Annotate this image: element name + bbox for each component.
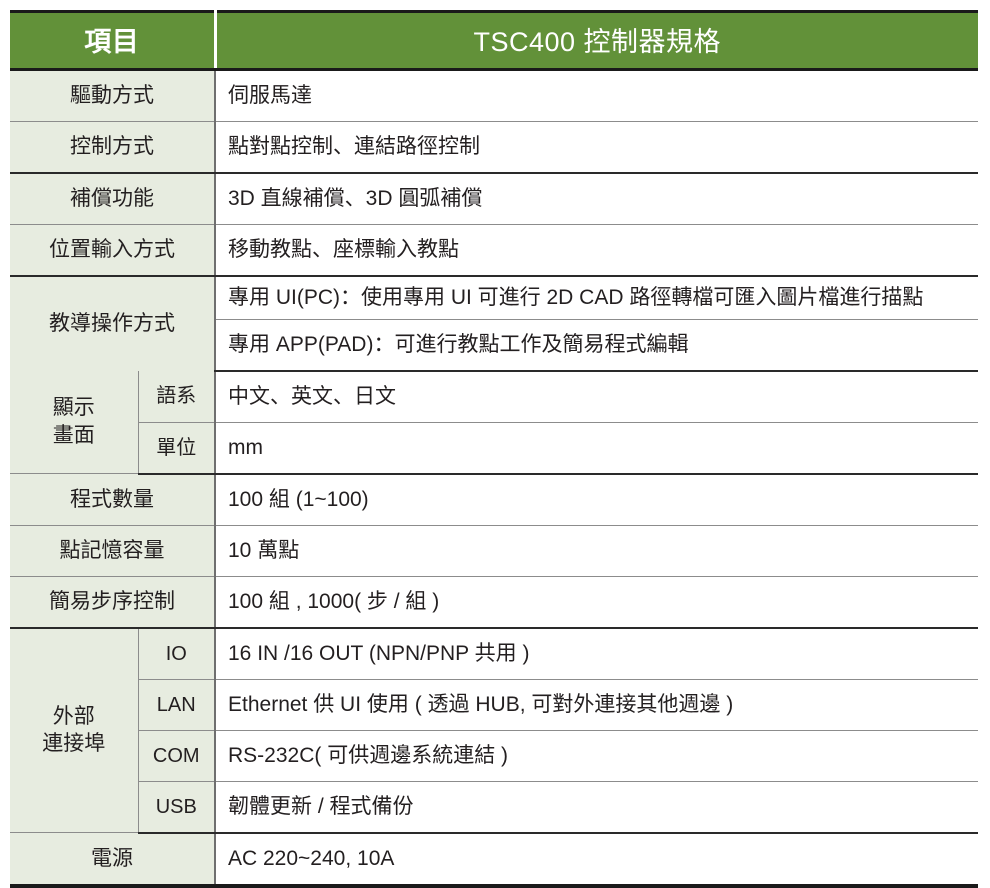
row-sublabel-usb: USB (138, 781, 215, 833)
header-row: 項目 TSC400 控制器規格 (10, 12, 978, 70)
row-sublabel-lan: LAN (138, 679, 215, 730)
table-body: 驅動方式 伺服馬達 控制方式 點對點控制、連結路徑控制 補償功能 3D 直線補償… (10, 70, 978, 886)
row-sublabel-io: IO (138, 628, 215, 680)
row-value-unit: mm (215, 422, 978, 474)
row-sublabel-com: COM (138, 730, 215, 781)
row-label-power: 電源 (10, 833, 215, 886)
table-row-position-input: 位置輸入方式 移動教點、座標輸入教點 (10, 225, 978, 277)
row-value-usb: 韌體更新 / 程式備份 (215, 781, 978, 833)
row-label-program-count: 程式數量 (10, 474, 215, 526)
row-value-com: RS-232C( 可供週邊系統連結 ) (215, 730, 978, 781)
row-value-power: AC 220~240, 10A (215, 833, 978, 886)
table-row-port-io: 外部 連接埠 IO 16 IN /16 OUT (NPN/PNP 共用 ) (10, 628, 978, 680)
table-row-port-lan: LAN Ethernet 供 UI 使用 ( 透過 HUB, 可對外連接其他週邊… (10, 679, 978, 730)
header-item-column: 項目 (10, 12, 215, 70)
table-row-compensation: 補償功能 3D 直線補償、3D 圓弧補償 (10, 173, 978, 225)
row-value-step-control: 100 組 , 1000( 步 / 組 ) (215, 576, 978, 628)
row-value-compensation: 3D 直線補償、3D 圓弧補償 (215, 173, 978, 225)
row-sublabel-unit: 單位 (138, 422, 215, 474)
row-value-io: 16 IN /16 OUT (NPN/PNP 共用 ) (215, 628, 978, 680)
row-value-language: 中文、英文、日文 (215, 371, 978, 423)
row-label-control-type: 控制方式 (10, 122, 215, 174)
row-label-position-input: 位置輸入方式 (10, 225, 215, 277)
spec-sheet: 項目 TSC400 控制器規格 驅動方式 伺服馬達 控制方式 點對點控制、連結路… (0, 0, 990, 808)
table-row-control-type: 控制方式 點對點控制、連結路徑控制 (10, 122, 978, 174)
row-value-program-count: 100 組 (1~100) (215, 474, 978, 526)
table-row-power: 電源 AC 220~240, 10A (10, 833, 978, 886)
row-sublabel-language: 語系 (138, 371, 215, 423)
table-row-port-com: COM RS-232C( 可供週邊系統連結 ) (10, 730, 978, 781)
row-value-point-memory: 10 萬點 (215, 525, 978, 576)
table-row-display-language: 顯示 畫面 語系 中文、英文、日文 (10, 371, 978, 423)
table-row-step-control: 簡易步序控制 100 組 , 1000( 步 / 組 ) (10, 576, 978, 628)
row-value-lan: Ethernet 供 UI 使用 ( 透過 HUB, 可對外連接其他週邊 ) (215, 679, 978, 730)
row-label-drive-type: 驅動方式 (10, 70, 215, 122)
row-value-control-type: 點對點控制、連結路徑控制 (215, 122, 978, 174)
table-row-drive-type: 驅動方式 伺服馬達 (10, 70, 978, 122)
row-label-point-memory: 點記憶容量 (10, 525, 215, 576)
row-label-display-screen: 顯示 畫面 (10, 371, 138, 474)
row-label-step-control: 簡易步序控制 (10, 576, 215, 628)
table-row-port-usb: USB 韌體更新 / 程式備份 (10, 781, 978, 833)
header-spec-column: TSC400 控制器規格 (215, 12, 978, 70)
table-row-teaching-ui: 教導操作方式 專用 UI(PC)：使用專用 UI 可進行 2D CAD 路徑轉檔… (10, 276, 978, 319)
row-label-external-ports: 外部 連接埠 (10, 628, 138, 833)
row-value-teaching-pad-app: 專用 APP(PAD)：可進行教點工作及簡易程式編輯 (215, 319, 978, 371)
row-value-teaching-pc-ui: 專用 UI(PC)：使用專用 UI 可進行 2D CAD 路徑轉檔可匯入圖片檔進… (215, 276, 978, 319)
row-label-compensation: 補償功能 (10, 173, 215, 225)
table-row-program-count: 程式數量 100 組 (1~100) (10, 474, 978, 526)
row-label-teaching-method: 教導操作方式 (10, 276, 215, 371)
table-row-point-memory: 點記憶容量 10 萬點 (10, 525, 978, 576)
row-value-drive-type: 伺服馬達 (215, 70, 978, 122)
table-row-display-unit: 單位 mm (10, 422, 978, 474)
controller-spec-table: 項目 TSC400 控制器規格 驅動方式 伺服馬達 控制方式 點對點控制、連結路… (10, 10, 978, 888)
table-header: 項目 TSC400 控制器規格 (10, 12, 978, 70)
row-value-position-input: 移動教點、座標輸入教點 (215, 225, 978, 277)
